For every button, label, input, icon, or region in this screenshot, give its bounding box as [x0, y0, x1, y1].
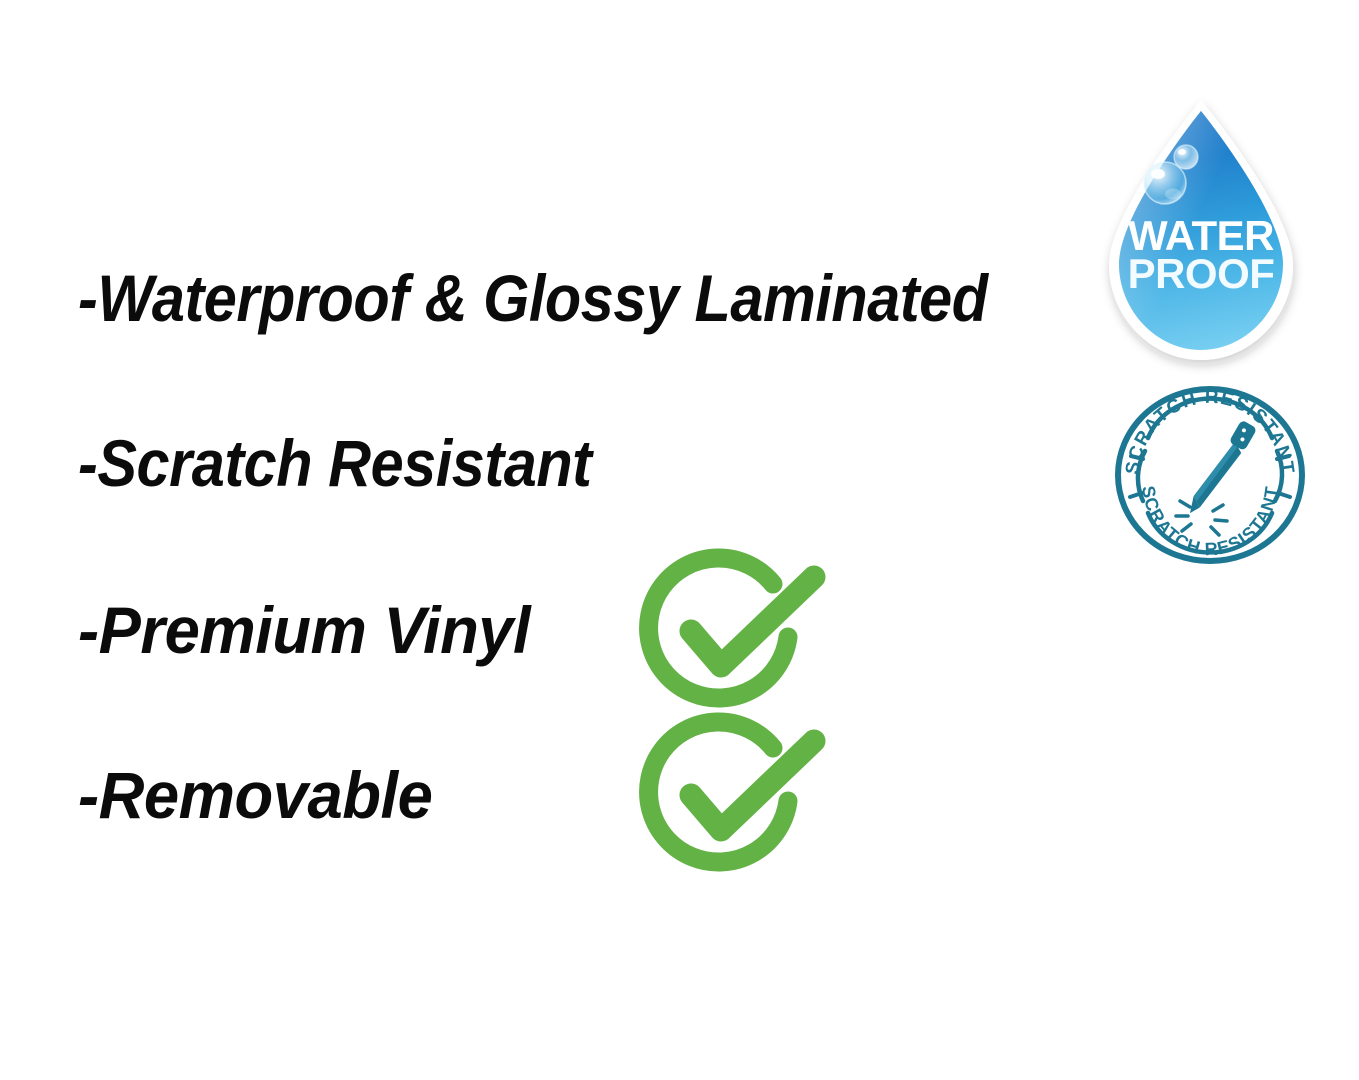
green-check-circle-icon	[642, 553, 832, 713]
product-feature-graphic: -Waterproof & Glossy Laminated -Scratch …	[0, 0, 1359, 1080]
check-tick	[691, 577, 814, 666]
feature-item-removable: -Removable	[78, 762, 432, 828]
scratch-impact-lines	[1176, 501, 1227, 535]
check-tick	[691, 741, 814, 830]
scratch-resistant-badge: SCRATCH RESISTANT SCRATCH RESISTANT	[1112, 385, 1308, 565]
checkmark-premium-vinyl	[642, 553, 832, 713]
feature-item-premium-vinyl: -Premium Vinyl	[78, 597, 530, 663]
feature-item-scratch-resistant: -Scratch Resistant	[78, 430, 591, 496]
scratch-resistant-stamp-icon: SCRATCH RESISTANT SCRATCH RESISTANT	[1112, 385, 1308, 565]
waterproof-label-line2: PROOF	[1128, 250, 1275, 297]
green-check-circle-icon	[642, 717, 832, 877]
waterproof-droplet-icon: WATER PROOF	[1097, 98, 1305, 370]
knife-icon	[1187, 414, 1258, 525]
waterproof-badge: WATER PROOF	[1097, 98, 1305, 370]
checkmark-removable	[642, 717, 832, 877]
feature-item-waterproof-glossy-laminated: -Waterproof & Glossy Laminated	[78, 265, 988, 331]
stamp-text-top: SCRATCH RESISTANT	[1122, 387, 1298, 476]
